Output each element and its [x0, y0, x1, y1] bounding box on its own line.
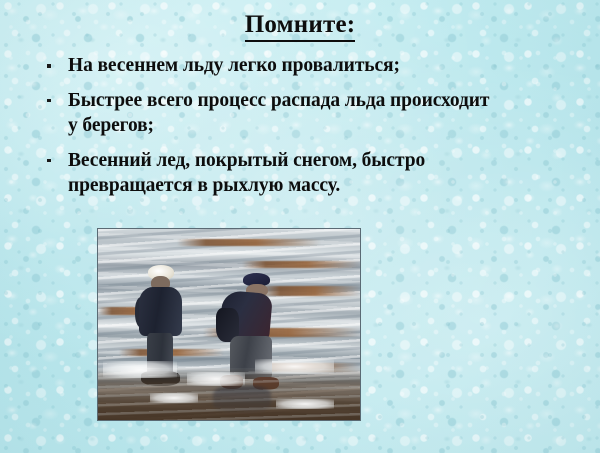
- snow-patch: [187, 372, 245, 385]
- bullet-item-1: На весеннем льду легко провалиться;: [40, 53, 588, 79]
- snow-patch: [103, 361, 176, 378]
- square-bullet-icon: [47, 64, 51, 68]
- dark-jacket: [139, 287, 182, 336]
- slide-canvas: Помните: На весеннем льду легко провалит…: [0, 0, 600, 453]
- bullet-item-1-text: На весеннем льду легко провалиться;: [68, 55, 400, 76]
- bullet-item-2-text: Быстрее всего процесс распада льда проис…: [68, 90, 489, 137]
- bullet-item-3: Весенний лед, покрытый снегом, быстро пр…: [40, 148, 588, 199]
- snow-patch: [150, 393, 197, 403]
- slide-title-text: Помните:: [245, 11, 356, 42]
- square-bullet-icon: [47, 159, 51, 163]
- bullet-item-3-text: Весенний лед, покрытый снегом, быстро пр…: [68, 150, 425, 197]
- snow-patch: [276, 399, 334, 409]
- photo-inner: [98, 229, 360, 420]
- slide-content: Помните: На весеннем льду легко провалит…: [0, 0, 600, 453]
- slide-title: Помните:: [0, 11, 600, 42]
- snow-patch: [255, 359, 334, 374]
- water-reflection: [213, 386, 271, 413]
- thawed-ground-streak: [242, 261, 360, 268]
- bullet-item-2: Быстрее всего процесс распада льда проис…: [40, 88, 588, 139]
- thawed-ground-streak: [177, 239, 321, 247]
- square-bullet-icon: [47, 99, 51, 103]
- photo-two-people-on-spring-ice: [97, 228, 361, 421]
- bullet-list: На весеннем льду легко провалиться; Быст…: [40, 53, 588, 208]
